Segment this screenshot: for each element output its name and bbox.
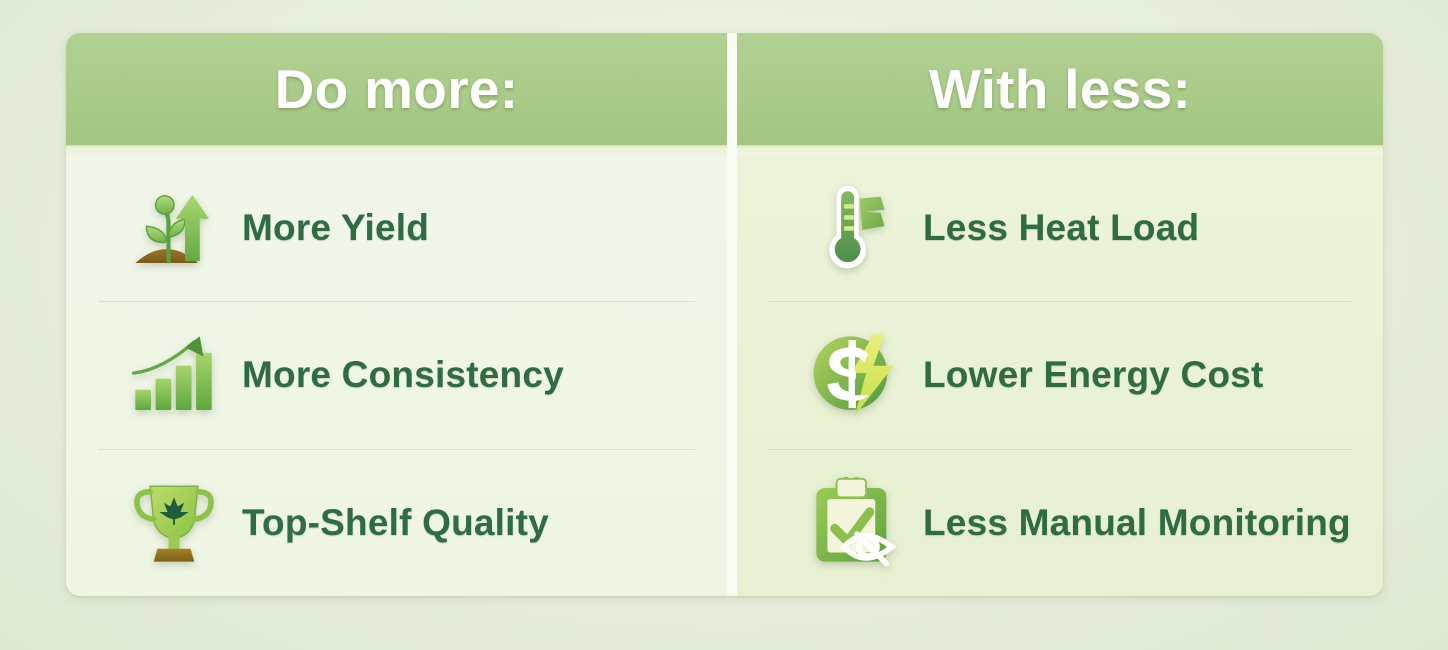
trophy-leaf-icon	[128, 477, 220, 569]
list-item[interactable]: Less Manual Monitoring	[769, 450, 1351, 596]
column-divider	[727, 33, 737, 596]
list-item-label: Top-Shelf Quality	[242, 502, 549, 544]
column-header-with-less: With less:	[737, 33, 1383, 145]
list-item[interactable]: Lower Energy Cost	[769, 302, 1351, 449]
benefit-list-with-less: Less Heat Load	[737, 155, 1383, 596]
list-item[interactable]: Less Heat Load	[769, 155, 1351, 302]
list-item[interactable]: Top-Shelf Quality	[98, 450, 695, 596]
thermometer-icon	[809, 182, 901, 274]
column-header-do-more: Do more:	[66, 33, 727, 145]
list-item[interactable]: More Yield	[98, 155, 695, 302]
slide-canvas: Do more:	[0, 0, 1448, 650]
bar-chart-rising-icon	[128, 329, 220, 421]
column-with-less: With less:	[737, 33, 1383, 596]
dollar-coin-lightning-icon	[809, 329, 901, 421]
list-item-label: Less Manual Monitoring	[923, 502, 1351, 544]
plant-growth-arrow-icon	[128, 182, 220, 274]
list-item-label: Lower Energy Cost	[923, 354, 1264, 396]
list-item[interactable]: More Consistency	[98, 302, 695, 449]
benefit-list-do-more: More Yield	[66, 155, 727, 596]
column-header-title: With less:	[929, 57, 1191, 121]
column-header-title: Do more:	[275, 57, 519, 121]
header-underline-strip	[737, 145, 1383, 155]
comparison-card: Do more:	[66, 33, 1383, 596]
list-item-label: Less Heat Load	[923, 207, 1199, 249]
column-do-more: Do more:	[66, 33, 727, 596]
clipboard-check-eye-icon	[809, 477, 901, 569]
list-item-label: More Yield	[242, 207, 429, 249]
header-underline-strip	[66, 145, 727, 155]
list-item-label: More Consistency	[242, 354, 564, 396]
